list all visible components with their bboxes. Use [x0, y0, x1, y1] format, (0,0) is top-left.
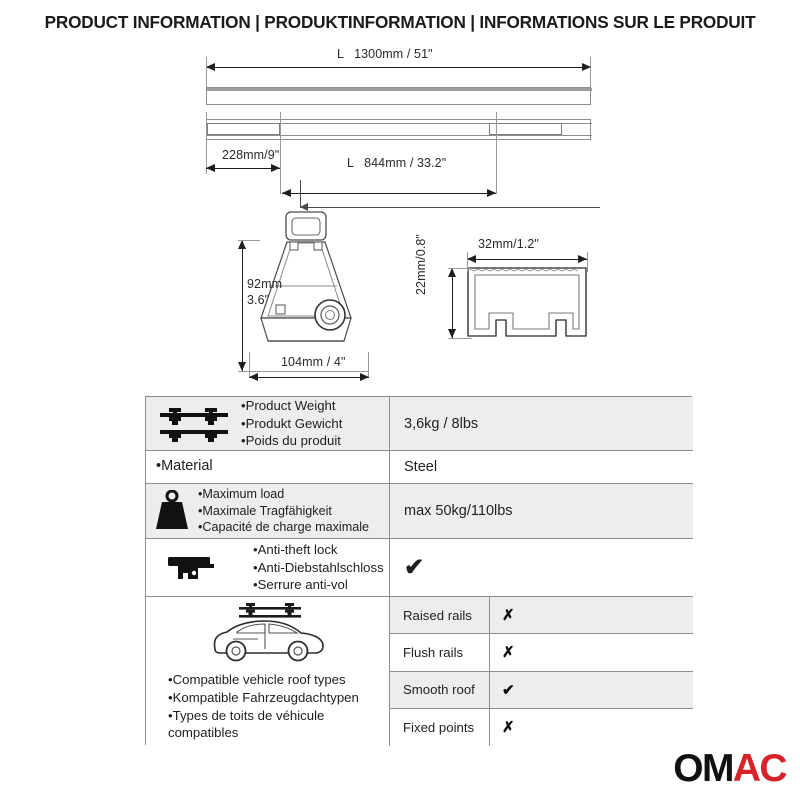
row-value: 3,6kg / 8lbs [389, 397, 693, 450]
foot-plate-right [489, 123, 562, 135]
crossbars-icon [146, 404, 241, 444]
row-labels: •Maximum load •Maximale Tragfähigkeit •C… [198, 486, 389, 536]
roof-type-mark: ✗ [489, 709, 693, 746]
lock-icon [146, 551, 241, 585]
ref-line-b [280, 112, 281, 194]
table-row-roof-types: •Compatible vehicle roof types •Kompatib… [146, 597, 693, 746]
row-label-en: •Maximum load [198, 486, 387, 503]
row-labels: •Material [156, 457, 389, 476]
row-value: Steel [389, 451, 693, 483]
roof-types-labels: •Compatible vehicle roof types •Kompatib… [154, 671, 359, 741]
roof-type-name: Fixed points [390, 709, 489, 746]
foot-height-tick-top [238, 240, 260, 241]
foot-height-arrow [238, 240, 247, 371]
span-length-value: 844mm / 33.2" [364, 156, 446, 170]
profile-height-tick-top [448, 268, 472, 269]
logo-text-red: AC [733, 747, 786, 790]
foot-plate-left [207, 123, 280, 135]
profile-cross-section-drawing [462, 258, 592, 348]
row-label-de: •Maximale Tragfähigkeit [198, 503, 387, 520]
row-label-en: •Product Weight [241, 397, 387, 415]
roof-label-en: •Compatible vehicle roof types [168, 671, 359, 689]
row-label-de: •Anti-Diebstahlschloss [253, 559, 387, 577]
row-label-cell: •Anti-theft lock •Anti-Diebstahlschloss … [146, 539, 389, 596]
roof-type-mark: ✗ [489, 634, 693, 670]
roof-types-subtable: Raised rails ✗ Flush rails ✗ Smooth roof… [389, 597, 693, 746]
row-value: max 50kg/110lbs [389, 484, 693, 538]
roof-label-fr-cont: compatibles [168, 724, 359, 742]
end-offset-label: 228mm/9" [222, 148, 279, 162]
roof-type-mark: ✗ [489, 597, 693, 633]
omac-logo: OMAC [673, 749, 786, 788]
span-length-label: L844mm / 33.2" [347, 156, 446, 170]
overall-length-label: L1300mm / 51" [337, 47, 433, 61]
profile-height-arrow [448, 268, 457, 338]
car-with-rack-icon [203, 601, 333, 665]
profile-width-ext-right [587, 252, 588, 272]
overall-length-arrow [206, 63, 591, 72]
row-label-en: •Material [156, 457, 387, 476]
roof-type-row: Fixed points ✗ [390, 709, 693, 746]
table-row: •Product Weight •Produkt Gewicht •Poids … [146, 397, 693, 451]
table-row: •Maximum load •Maximale Tragfähigkeit •C… [146, 484, 693, 539]
foot-width-ext-right [368, 352, 369, 377]
roof-type-mark: ✔ [489, 672, 693, 708]
leader-horizontal [300, 207, 600, 208]
end-offset-arrow [206, 164, 280, 173]
foot-height-tick-bottom [238, 371, 368, 372]
roof-type-name: Smooth roof [390, 672, 489, 708]
roof-type-row: Flush rails ✗ [390, 634, 693, 671]
roof-type-row: Raised rails ✗ [390, 597, 693, 634]
roof-label-fr: •Types de toits de véhicule [168, 707, 359, 725]
row-label-fr: •Serrure anti-vol [253, 576, 387, 594]
ref-line-c [496, 112, 497, 194]
logo-text-black: OM [673, 747, 733, 790]
row-labels: •Anti-theft lock •Anti-Diebstahlschloss … [241, 541, 389, 594]
row-label-de: •Produkt Gewicht [241, 415, 387, 433]
table-row: •Material Steel [146, 451, 693, 484]
foot-height-mm: 92mm [247, 277, 282, 293]
foot-height-label: 92mm 3.6" [247, 277, 282, 308]
overall-length-symbol: L [337, 47, 344, 61]
row-label-en: •Anti-theft lock [253, 541, 387, 559]
row-label-fr: •Poids du produit [241, 432, 387, 450]
span-length-symbol: L [347, 156, 354, 170]
row-value: ✔ [389, 539, 693, 596]
roof-type-name: Raised rails [390, 597, 489, 633]
roof-types-label-cell: •Compatible vehicle roof types •Kompatib… [146, 597, 389, 746]
foot-width-label: 104mm / 4" [281, 355, 346, 369]
overall-length-value: 1300mm / 51" [354, 47, 433, 61]
row-label-cell: •Product Weight •Produkt Gewicht •Poids … [146, 397, 389, 450]
specification-table: •Product Weight •Produkt Gewicht •Poids … [145, 396, 692, 745]
roof-label-de: •Kompatible Fahrzeugdachtypen [168, 689, 359, 707]
profile-height-tick-bottom [448, 338, 472, 339]
row-label-cell: •Maximum load •Maximale Tragfähigkeit •C… [146, 484, 389, 538]
span-length-arrow [282, 189, 496, 198]
profile-width-label: 32mm/1.2" [478, 237, 539, 251]
profile-width-arrow [467, 255, 587, 264]
crossbar-side-view [206, 87, 591, 105]
weight-icon [146, 490, 198, 532]
roof-type-row: Smooth roof ✔ [390, 672, 693, 709]
foot-width-arrow [249, 373, 369, 382]
row-label-fr: •Capacité de charge maximale [198, 519, 387, 536]
foot-height-in: 3.6" [247, 293, 282, 309]
page-title: PRODUCT INFORMATION | PRODUKTINFORMATION… [0, 12, 800, 33]
page-title-text: PRODUCT INFORMATION | PRODUKTINFORMATION… [45, 12, 756, 32]
roof-type-name: Flush rails [390, 634, 489, 670]
table-row: •Anti-theft lock •Anti-Diebstahlschloss … [146, 539, 693, 597]
foot-width-ext-left [249, 352, 250, 377]
row-labels: •Product Weight •Produkt Gewicht •Poids … [241, 397, 389, 450]
row-label-cell: •Material [146, 451, 389, 483]
profile-height-label: 22mm/0.8" [414, 234, 428, 295]
product-info-sheet: PRODUCT INFORMATION | PRODUKTINFORMATION… [0, 0, 800, 800]
profile-width-ext-left [467, 252, 468, 272]
